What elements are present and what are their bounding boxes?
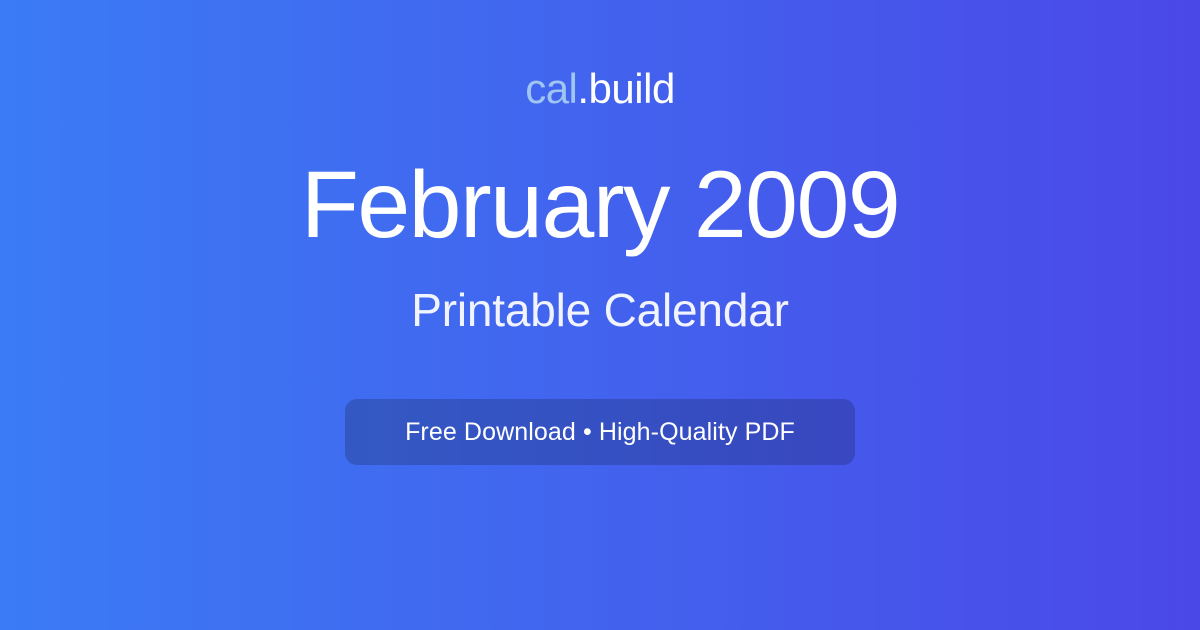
og-preview-card: cal.build February 2009 Printable Calend…: [0, 0, 1200, 630]
badge-label: Free Download • High-Quality PDF: [405, 420, 795, 445]
brand-name-suffix: .build: [577, 65, 674, 112]
page-subtitle: Printable Calendar: [411, 287, 788, 333]
page-title: February 2009: [301, 158, 899, 253]
brand-wordmark[interactable]: cal.build: [525, 68, 675, 110]
free-download-badge[interactable]: Free Download • High-Quality PDF: [345, 399, 855, 465]
brand-name-primary: cal: [525, 65, 577, 112]
